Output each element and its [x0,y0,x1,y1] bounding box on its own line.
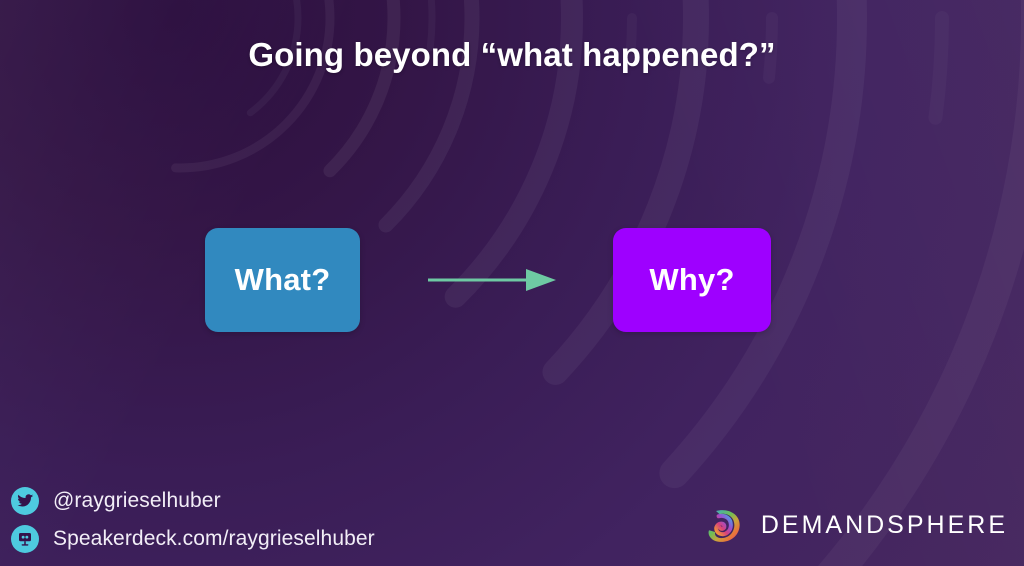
concept-box-what[interactable]: What? [205,228,360,332]
social-row-twitter[interactable]: @raygrieselhuber [11,482,375,520]
demandsphere-logo-icon [702,504,744,546]
social-handles: @raygrieselhuber Speakerdeck.com/raygrie… [11,482,375,558]
speakerdeck-icon[interactable] [11,525,39,553]
concept-box-what-label: What? [235,262,331,298]
social-handle-twitter: @raygrieselhuber [53,489,221,513]
page-title: Going beyond “what happened?” [0,36,1024,74]
concept-box-why[interactable]: Why? [613,228,771,332]
brand-lockup: DEMANDSPHERE [702,504,1008,546]
social-row-speakerdeck[interactable]: Speakerdeck.com/raygrieselhuber [11,520,375,558]
social-handle-speakerdeck: Speakerdeck.com/raygrieselhuber [53,527,375,551]
brand-name: DEMANDSPHERE [761,511,1008,540]
presentation-slide: Going beyond “what happened?” What? Why?… [0,0,1024,566]
concept-box-why-label: Why? [649,262,734,298]
twitter-icon[interactable] [11,487,39,515]
arrow-right-icon [426,262,556,298]
